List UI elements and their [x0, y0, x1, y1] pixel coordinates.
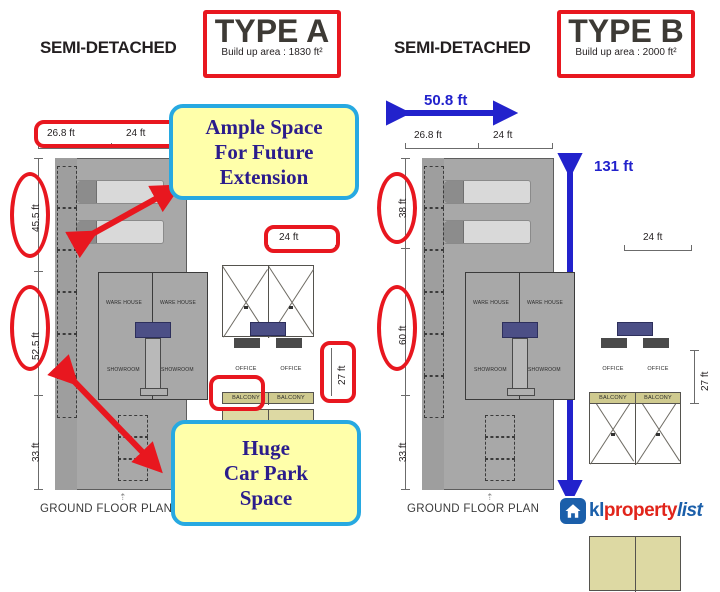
- callout-top-line3: Extension: [220, 165, 309, 189]
- elev-right-office-right: OFFICE: [643, 366, 673, 372]
- left-drive-bay: [57, 250, 77, 292]
- left-parking-bay: [118, 459, 148, 481]
- left-drive-bay: [57, 292, 77, 334]
- left-room-showroom-right: SHOWROOM: [161, 367, 194, 373]
- elev-right-office-block: [589, 536, 681, 591]
- elev-right-office-left: OFFICE: [598, 366, 628, 372]
- klpropertylist-logo[interactable]: klpropertylist: [556, 496, 706, 526]
- left-machine-icon: [135, 322, 171, 338]
- right-heading: SEMI-DETACHED: [394, 38, 531, 58]
- left-dim-side-2-highlight: [10, 285, 50, 371]
- elev-right-dim-line: [624, 250, 692, 251]
- right-dim-side-tick-1: [401, 158, 410, 159]
- elev-right-dim-tick-2: [691, 245, 692, 251]
- right-dim-side-2-highlight: [377, 285, 417, 371]
- house-icon: [560, 498, 586, 524]
- elev-left-dim-tick-2: [335, 245, 336, 251]
- left-dim-side-1: 45.5 ft: [31, 204, 42, 232]
- left-plan-caption: GROUND FLOOR PLAN: [40, 503, 172, 515]
- logo-kl: kl: [589, 500, 604, 521]
- elev-left-balcony-left: BALCONY: [228, 395, 264, 401]
- left-dim-side-tick-1: [34, 158, 43, 159]
- left-room-showroom-left: SHOWROOM: [107, 367, 140, 373]
- right-type-area: Build up area : 2000 ft²: [567, 47, 685, 59]
- elev-left-dim-tick-1: [268, 245, 269, 251]
- elev-left-dim-width: 24 ft: [279, 232, 298, 243]
- right-stair-icon: [512, 338, 528, 390]
- right-north-arrow-icon: ⇡: [486, 492, 494, 503]
- elev-left-dim-width-highlight: [264, 225, 340, 253]
- right-dim-tick-3: [552, 143, 553, 149]
- right-machine-icon: [502, 322, 538, 338]
- left-drive-bay: [57, 208, 77, 250]
- elev-left-office-left: OFFICE: [231, 366, 261, 372]
- truck-cab-icon: [77, 221, 97, 243]
- elev-left-machine-icon: [250, 322, 286, 336]
- right-dim-side-2: 60 ft: [398, 326, 409, 345]
- left-room-warehouse-left: WARE HOUSE: [106, 300, 142, 306]
- right-stair-base: [507, 388, 535, 396]
- elev-right-balcony-left: BALCONY: [595, 395, 631, 401]
- callout-bottom-line2: Car Park: [224, 461, 308, 485]
- left-type-area: Build up area : 1830 ft²: [213, 47, 331, 59]
- truck-cab-icon: [444, 181, 464, 203]
- elev-left-balcony-right: BALCONY: [273, 395, 309, 401]
- right-dim-side-tick-2: [401, 248, 410, 249]
- elev-left-height-line: [331, 348, 332, 396]
- callout-top-line2: For Future: [215, 140, 314, 164]
- right-parking-bay: [485, 415, 515, 437]
- right-dim-depth-total: 131 ft: [594, 158, 633, 175]
- truck-cab-icon: [444, 221, 464, 243]
- right-parking-bay: [485, 459, 515, 481]
- elev-right-height-tick-1: [690, 350, 699, 351]
- right-dim-tick-1: [405, 143, 406, 149]
- callout-top-line1: Ample Space: [205, 115, 322, 139]
- callout-bottom-line1: Huge: [242, 436, 290, 460]
- elev-right-machine-icon: [617, 322, 653, 336]
- right-room-showroom-right: SHOWROOM: [528, 367, 561, 373]
- left-dim-top-line: [38, 148, 186, 149]
- left-truck-1: [76, 180, 164, 204]
- elev-right-grille-icon: [601, 338, 627, 348]
- left-dim-side-tick-2: [34, 271, 43, 272]
- left-truck-2: [76, 220, 164, 244]
- right-room-showroom-left: SHOWROOM: [474, 367, 507, 373]
- elev-left-grille-icon: [234, 338, 260, 348]
- elev-left-grille-icon: [276, 338, 302, 348]
- right-dim-side-3: 33 ft: [398, 443, 409, 462]
- right-dim-side-1-highlight: [377, 172, 417, 244]
- right-dim-width-total: 50.8 ft: [424, 92, 467, 109]
- right-plan-caption: GROUND FLOOR PLAN: [407, 503, 539, 515]
- elev-right-dim-tick-1: [624, 245, 625, 251]
- left-north-arrow-icon: ⇡: [119, 492, 127, 503]
- elev-left-office-right: OFFICE: [276, 366, 306, 372]
- right-truck-1: [443, 180, 531, 204]
- right-drive-bay: [424, 250, 444, 292]
- left-dim-side-tick-4: [34, 489, 43, 490]
- elev-right-dim-height: 27 ft: [700, 372, 711, 391]
- right-room-warehouse-right: WARE HOUSE: [527, 300, 563, 306]
- right-drive-bay: [424, 334, 444, 376]
- right-dim-top-right: 24 ft: [493, 130, 512, 141]
- left-type-badge: TYPE A Build up area : 1830 ft²: [203, 10, 341, 78]
- right-drive-bay: [424, 166, 444, 208]
- right-dim-side-1: 38 ft: [398, 199, 409, 218]
- left-stair-base: [140, 388, 168, 396]
- elev-left-dim-height: 27 ft: [337, 366, 348, 385]
- right-dim-side-tick-3: [401, 395, 410, 396]
- left-dim-tick-2: [111, 143, 112, 149]
- elev-right-grille-icon: [643, 338, 669, 348]
- right-dim-top-line: [405, 148, 553, 149]
- left-dim-side-3: 33 ft: [31, 443, 42, 462]
- right-drive-bay: [424, 376, 444, 418]
- callout-car-park: Huge Car Park Space: [171, 420, 361, 526]
- left-dim-side-tick-3: [34, 395, 43, 396]
- elev-right-height-line: [694, 350, 695, 404]
- left-heading: SEMI-DETACHED: [40, 38, 177, 58]
- right-drive-bay: [424, 208, 444, 250]
- right-dim-side-tick-4: [401, 489, 410, 490]
- callout-bottom-line3: Space: [240, 486, 293, 510]
- left-drive-bay: [57, 334, 77, 376]
- logo-list: list: [677, 500, 702, 521]
- left-dim-side-2: 52.5 ft: [31, 332, 42, 360]
- right-dim-tick-2: [478, 143, 479, 149]
- left-drive-bay: [57, 166, 77, 208]
- right-truck-2: [443, 220, 531, 244]
- left-parking-bay: [118, 415, 148, 437]
- elev-right-dim-width: 24 ft: [643, 232, 662, 243]
- left-dim-side-1-highlight: [10, 172, 50, 258]
- logo-property: property: [604, 500, 677, 521]
- left-dim-tick-1: [38, 143, 39, 149]
- elev-right-balcony-right: BALCONY: [640, 395, 676, 401]
- left-dim-top-right: 24 ft: [126, 128, 145, 139]
- left-stair-icon: [145, 338, 161, 390]
- right-drive-bay: [424, 292, 444, 334]
- right-parking-bay: [485, 437, 515, 459]
- callout-ample-space: Ample Space For Future Extension: [169, 104, 359, 200]
- elev-left-dim-line: [268, 250, 336, 251]
- left-drive-bay: [57, 376, 77, 418]
- right-dim-top-left: 26.8 ft: [414, 130, 442, 141]
- left-dim-top-left: 26.8 ft: [47, 128, 75, 139]
- right-type-badge: TYPE B Build up area : 2000 ft²: [557, 10, 695, 78]
- left-parking-bay: [118, 437, 148, 459]
- left-type-name: TYPE A: [213, 15, 331, 47]
- right-room-warehouse-left: WARE HOUSE: [473, 300, 509, 306]
- elev-right-height-tick-2: [690, 403, 699, 404]
- truck-cab-icon: [77, 181, 97, 203]
- left-room-warehouse-right: WARE HOUSE: [160, 300, 196, 306]
- right-type-name: TYPE B: [567, 15, 685, 47]
